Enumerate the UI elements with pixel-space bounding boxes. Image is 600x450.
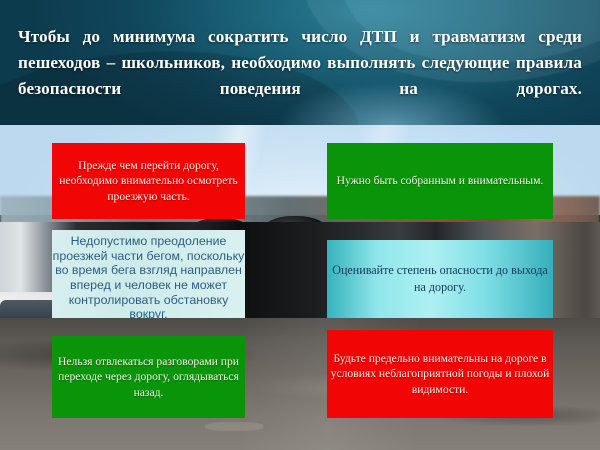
rule-box-assess-danger: Оценивайте степень опасности до выхода н… xyxy=(327,240,553,318)
rule-box-no-talking: Нельзя отвлекаться разговорами при перех… xyxy=(52,336,245,418)
rule-text: Нельзя отвлекаться разговорами при перех… xyxy=(52,354,245,400)
photo-debris xyxy=(205,422,263,431)
rule-text: Нужно быть собранным и внимательным. xyxy=(327,173,553,188)
rule-text: Будьте предельно внимательны на дороге в… xyxy=(327,351,553,397)
rule-text: Оценивайте степень опасности до выхода н… xyxy=(327,262,553,296)
header-band: Чтобы до минимума сократить число ДТП и … xyxy=(0,0,600,125)
rule-text: Недопустимо преодоление проезжей части б… xyxy=(52,234,245,318)
rule-box-look-before: Прежде чем перейти дорогу, необходимо вн… xyxy=(52,143,245,219)
rule-text: Прежде чем перейти дорогу, необходимо вн… xyxy=(52,158,245,204)
rule-box-no-running: Недопустимо преодоление проезжей части б… xyxy=(52,230,245,318)
rule-box-bad-weather: Будьте предельно внимательны на дороге в… xyxy=(327,330,553,418)
rule-box-be-focused: Нужно быть собранным и внимательным. xyxy=(327,143,553,219)
slide-title: Чтобы до минимума сократить число ДТП и … xyxy=(18,24,582,102)
slide: Чтобы до минимума сократить число ДТП и … xyxy=(0,0,600,450)
